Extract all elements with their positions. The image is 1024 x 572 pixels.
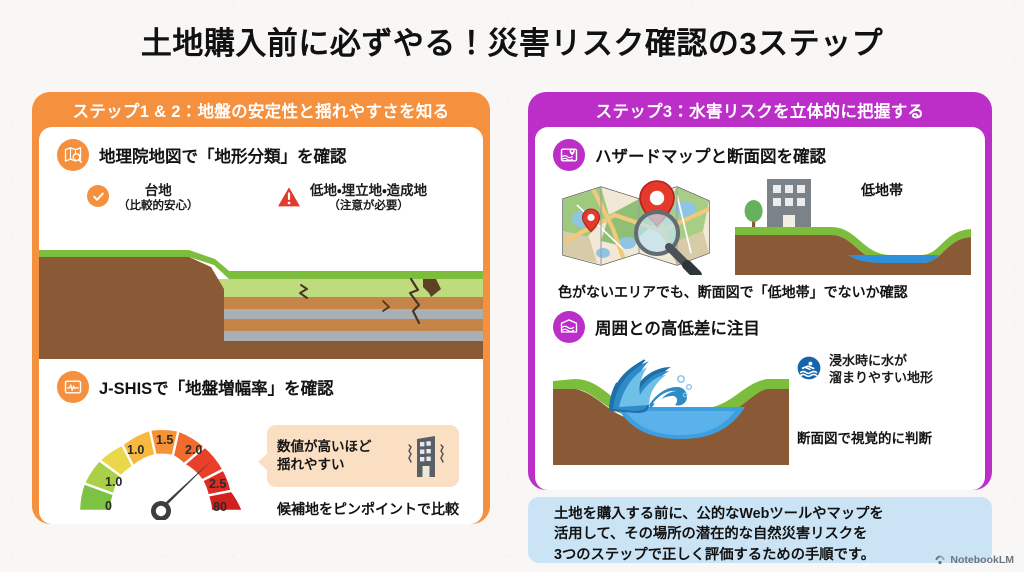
panel-left-header: ステップ1 & 2：地盤の安定性と揺れやすさを知る — [39, 99, 483, 127]
flood-wave-icon — [553, 311, 585, 343]
page-title: 土地購入前に必ずやる！災害リスク確認の3ステップ — [0, 18, 1024, 63]
section-title: 地理院地図で「地形分類」を確認 — [99, 143, 347, 167]
watermark-label: NotebookLM — [950, 554, 1014, 566]
section-title: ハザードマップと断面図を確認 — [595, 143, 826, 167]
hazard-map-caption: 色がないエリアでも、断面図で「低地帯」でないか確認 — [558, 282, 908, 302]
section-hazard-map: ハザードマップと断面図を確認 — [553, 139, 826, 171]
watermark: NotebookLM — [934, 554, 1014, 566]
map-search-icon — [57, 139, 89, 171]
legend-label: 台地 — [145, 183, 172, 198]
section-jshis: J-SHISで「地盤増幅率」を確認 — [57, 371, 334, 403]
summary-box: 土地を購入する前に、公的なWebツールやマップを 活用して、その場所の潜在的な自… — [528, 497, 992, 563]
gauge-tick-1: 1.0 — [105, 475, 122, 489]
flood-note: 浸水時に水が 溜まりやすい地形 — [797, 353, 933, 387]
gauge-tick-5: 2.5 — [209, 477, 226, 491]
legend-label: 低地・埋立地・造成地 — [310, 183, 427, 198]
section-title: J-SHISで「地盤増幅率」を確認 — [99, 375, 334, 399]
legend-sublabel: （注意が必要） — [310, 199, 427, 213]
warning-triangle-icon — [277, 186, 301, 208]
legend-sublabel: （比較的安心） — [118, 199, 199, 213]
panel-steps-1-2: ステップ1 & 2：地盤の安定性と揺れやすさを知る 地理院地図で「地形分類」を確… — [32, 92, 490, 524]
legend-lowland-risk: 低地・埋立地・造成地 （注意が必要） — [277, 185, 427, 213]
lowland-cross-section-illustration: 低地帯 — [735, 171, 971, 275]
summary-line-2: 活用して、その場所の潜在的な自然災害リスクを — [554, 524, 992, 544]
notebooklm-icon — [934, 554, 946, 566]
flood-note-line-1: 浸水時に水が — [829, 353, 907, 368]
flood-note-line-2: 溜まりやすい地形 — [829, 370, 933, 385]
summary-line-3: 3つのステップで正しく評価するための手順です。 — [554, 545, 992, 565]
bubble-line-1: 数値が高いほど — [277, 439, 372, 454]
folded-map-illustration — [557, 175, 715, 275]
flood-warning-icon — [797, 356, 821, 380]
gauge-tick-2: 1.0 — [127, 443, 144, 457]
gauge-caption: 候補地をピンポイントで比較 — [277, 499, 459, 519]
gauge-tick-6: 80 — [213, 500, 227, 514]
terrain-cross-section-illustration — [39, 249, 483, 359]
section-elevation-difference: 周囲との高低差に注目 — [553, 311, 760, 343]
elevation-caption: 断面図で視覚的に判断 — [797, 427, 932, 447]
wave-basin-illustration — [553, 349, 789, 465]
legend-plateau-safe: 台地 （比較的安心） — [87, 185, 199, 213]
amplification-gauge: 0 1.0 1.0 1.5 2.0 2.5 80 — [61, 415, 261, 520]
panel-step-3: ステップ3：水害リスクを立体的に把握する ハザードマップと断面図を確認 — [528, 92, 992, 490]
summary-line-1: 土地を購入する前に、公的なWebツールやマップを — [554, 504, 992, 524]
section-chiriin-map: 地理院地図で「地形分類」を確認 — [57, 139, 347, 171]
gauge-tick-0: 0 — [105, 499, 112, 513]
panel-right-header: ステップ3：水害リスクを立体的に把握する — [535, 99, 985, 127]
check-circle-icon — [87, 185, 109, 207]
lowland-label: 低地帯 — [861, 180, 903, 200]
seismograph-icon — [57, 371, 89, 403]
shaking-building-icon — [401, 431, 449, 481]
hazard-map-icon — [553, 139, 585, 171]
gauge-tick-4: 2.0 — [185, 443, 202, 457]
panel-left-body: 地理院地図で「地形分類」を確認 台地 （比較的安心） 低地・埋立地・造 — [39, 127, 483, 524]
gauge-tick-3: 1.5 — [156, 433, 173, 447]
section-title: 周囲との高低差に注目 — [595, 315, 760, 339]
gauge-callout-bubble: 数値が高いほど 揺れやすい — [267, 425, 459, 487]
panel-right-body: ハザードマップと断面図を確認 — [535, 127, 985, 490]
bubble-line-2: 揺れやすい — [277, 457, 345, 472]
